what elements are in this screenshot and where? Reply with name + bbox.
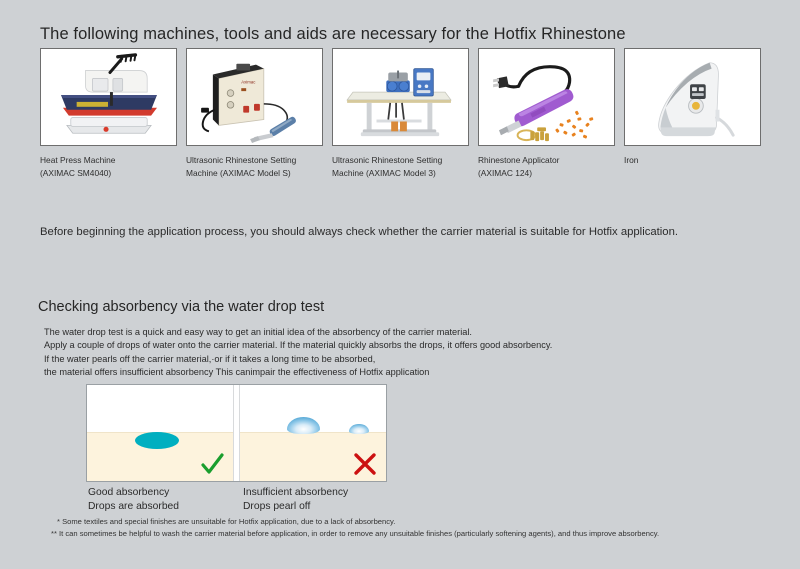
illustration-labels: Good absorbency Drops are absorbed Insuf… — [88, 486, 418, 513]
label-bad-line-2: Drops pearl off — [243, 500, 348, 514]
label-good-absorbency: Good absorbency Drops are absorbed — [88, 486, 243, 513]
footnotes: * Some textiles and special finishes are… — [57, 516, 659, 540]
body-line-1: The water drop test is a quick and easy … — [44, 326, 552, 339]
caption-line-1: Ultrasonic Rhinestone Setting — [332, 154, 464, 167]
thumb-rhinestone-applicator[interactable] — [478, 48, 615, 146]
caption-heat-press: Heat Press Machine (AXIMAC SM4040) — [40, 154, 172, 179]
caption-line-1: Heat Press Machine — [40, 154, 172, 167]
page-title: The following machines, tools and aids a… — [40, 25, 626, 44]
gallery-item-rhinestone-applicator[interactable]: Rhinestone Applicator (AXIMAC 124) — [478, 48, 624, 179]
machine-gallery: Heat Press Machine (AXIMAC SM4040) — [40, 48, 770, 179]
caption-ultrasonic-model-s: Ultrasonic Rhinestone Setting Machine (A… — [186, 154, 318, 179]
gallery-item-iron[interactable]: Iron — [624, 48, 770, 179]
thumb-ultrasonic-model-3[interactable] — [332, 48, 469, 146]
body-line-2: Apply a couple of drops of water onto th… — [44, 339, 552, 352]
cross-mark-icon — [352, 451, 378, 477]
rhinestone-applicator-icon — [479, 49, 614, 145]
check-mark-icon — [199, 451, 225, 477]
caption-iron: Iron — [624, 154, 756, 167]
caption-rhinestone-applicator: Rhinestone Applicator (AXIMAC 124) — [478, 154, 610, 179]
label-bad-line-1: Insufficient absorbency — [243, 486, 348, 500]
heat-press-machine-icon — [41, 49, 176, 145]
gallery-item-ultrasonic-model-s[interactable]: Aximac Ultrasonic Rhinestone Setting Mac… — [186, 48, 332, 179]
pearled-water-drop-large — [287, 417, 320, 434]
absorbed-water-drop — [135, 432, 179, 449]
footnote-1: * Some textiles and special finishes are… — [57, 516, 659, 528]
gallery-item-heat-press[interactable]: Heat Press Machine (AXIMAC SM4040) — [40, 48, 186, 179]
caption-line-2: (AXIMAC SM4040) — [40, 167, 172, 180]
ultrasonic-setting-machine-model-3-icon — [333, 49, 468, 145]
iron-icon — [625, 49, 760, 145]
panel-good-absorbency — [87, 385, 233, 481]
caption-line-2: Machine (AXIMAC Model S) — [186, 167, 318, 180]
pearled-water-drop-small — [349, 424, 369, 434]
document-page: The following machines, tools and aids a… — [0, 0, 800, 569]
water-drop-test-description: The water drop test is a quick and easy … — [44, 326, 552, 379]
caption-line-1: Ultrasonic Rhinestone Setting — [186, 154, 318, 167]
thumb-iron[interactable] — [624, 48, 761, 146]
thumb-heat-press[interactable] — [40, 48, 177, 146]
panel-insufficient-absorbency — [240, 385, 386, 481]
body-line-4: the material offers insufficient absorbe… — [44, 366, 552, 379]
label-insufficient-absorbency: Insufficient absorbency Drops pearl off — [243, 486, 348, 513]
label-good-line-2: Drops are absorbed — [88, 500, 243, 514]
caption-line-2: (AXIMAC 124) — [478, 167, 610, 180]
gallery-item-ultrasonic-model-3[interactable]: Ultrasonic Rhinestone Setting Machine (A… — [332, 48, 478, 179]
caption-line-2: Machine (AXIMAC Model 3) — [332, 167, 464, 180]
footnote-2: ** It can sometimes be helpful to wash t… — [51, 528, 659, 540]
ultrasonic-setting-machine-model-s-icon: Aximac — [187, 49, 322, 145]
body-line-3: If the water pearls off the carrier mate… — [44, 353, 552, 366]
lead-statement: Before beginning the application process… — [40, 226, 678, 238]
caption-line-1: Iron — [624, 154, 756, 167]
section-heading-water-drop-test: Checking absorbency via the water drop t… — [38, 299, 324, 315]
caption-line-1: Rhinestone Applicator — [478, 154, 610, 167]
panel-divider — [233, 385, 240, 481]
caption-ultrasonic-model-3: Ultrasonic Rhinestone Setting Machine (A… — [332, 154, 464, 179]
water-drop-test-illustration — [86, 384, 387, 482]
svg-text:Aximac: Aximac — [241, 79, 256, 84]
thumb-ultrasonic-model-s[interactable]: Aximac — [186, 48, 323, 146]
label-good-line-1: Good absorbency — [88, 486, 243, 500]
